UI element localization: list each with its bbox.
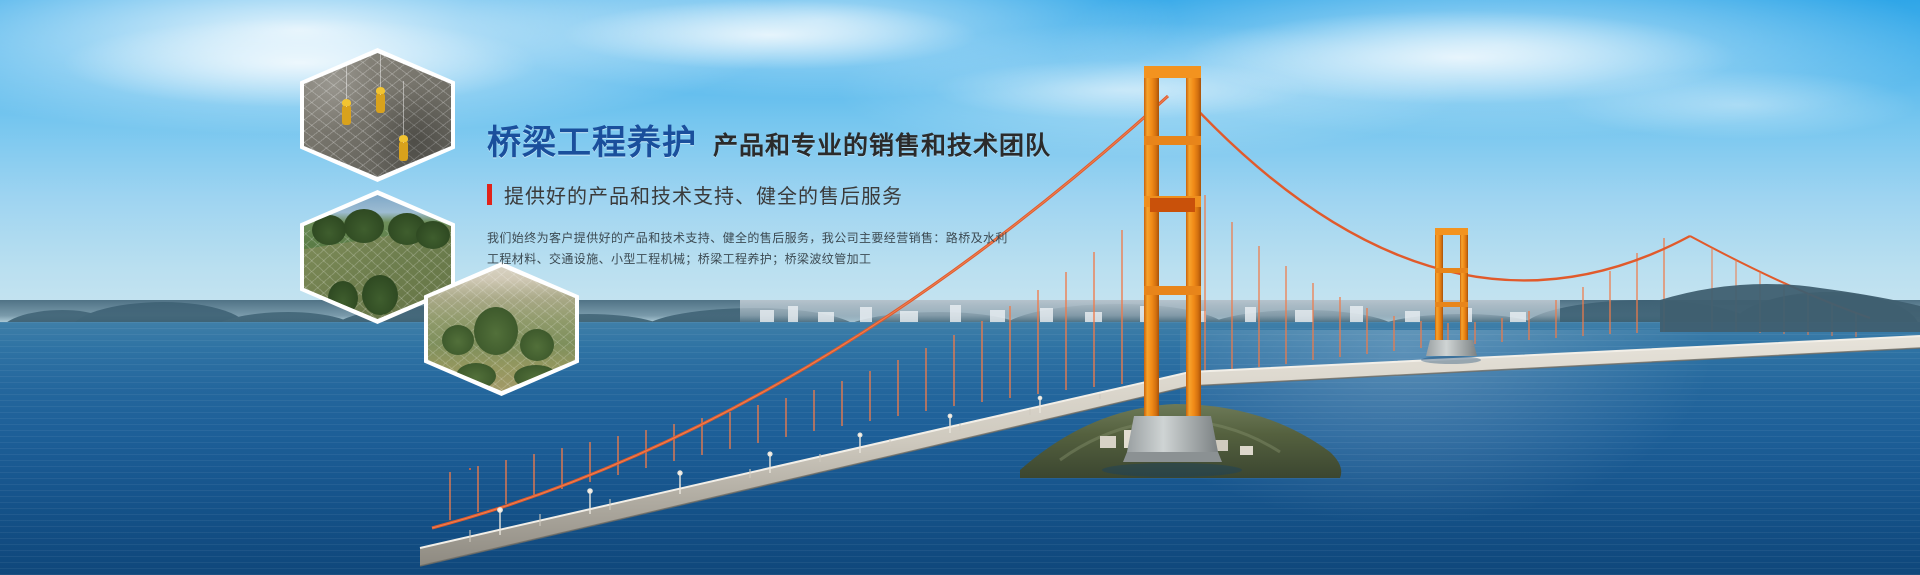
bridge-tower-main bbox=[1123, 66, 1222, 462]
banner-copy: 桥梁工程养护产品和专业的销售和技术团队 提供好的产品和技术支持、健全的售后服务 … bbox=[487, 126, 1127, 270]
headline-primary: 桥梁工程养护 bbox=[487, 124, 697, 162]
accent-bar-icon bbox=[487, 184, 492, 205]
suspension-bridge-graphic bbox=[0, 0, 1920, 575]
body-line: 我们始终为客户提供好的产品和技术支持、健全的售后服务，我公司主要经营销售：路桥及… bbox=[487, 228, 917, 249]
hero-banner: 桥梁工程养护产品和专业的销售和技术团队 提供好的产品和技术支持、健全的售后服务 … bbox=[0, 0, 1920, 575]
thumbnail-embankment-mesh-shrubs[interactable] bbox=[424, 262, 579, 396]
thumbnail-rock-slope-mesh-workers[interactable] bbox=[300, 48, 455, 182]
banner-body-copy: 我们始终为客户提供好的产品和技术支持、健全的售后服务，我公司主要经营销售：路桥及… bbox=[487, 228, 917, 270]
subheadline-text: 提供好的产品和技术支持、健全的售后服务 bbox=[504, 180, 903, 209]
bridge-tower-secondary bbox=[1426, 228, 1477, 356]
body-line: 工程材料、交通设施、小型工程机械；桥梁工程养护；桥梁波纹管加工 bbox=[487, 249, 917, 270]
banner-subheadline: 提供好的产品和技术支持、健全的售后服务 bbox=[487, 180, 1127, 209]
headline-secondary: 产品和专业的销售和技术团队 bbox=[713, 132, 1051, 160]
banner-headline: 桥梁工程养护产品和专业的销售和技术团队 bbox=[487, 126, 1127, 160]
